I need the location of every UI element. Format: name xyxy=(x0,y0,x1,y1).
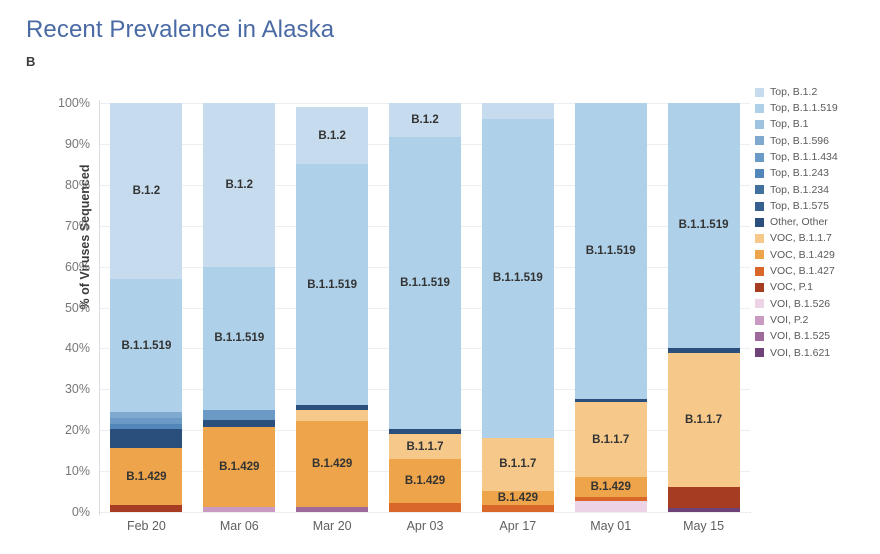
legend-item-label: VOC, P.1 xyxy=(770,282,813,293)
y-tick-label: 10% xyxy=(42,464,90,478)
bar-column[interactable]: B.1.429B.1.1.7B.1.1.519 xyxy=(575,103,647,512)
legend-swatch-icon xyxy=(755,153,764,162)
bar-segment[interactable]: B.1.429 xyxy=(203,427,275,507)
legend-swatch-icon xyxy=(755,120,764,129)
bar-segment[interactable]: B.1.429 xyxy=(482,491,554,506)
bar-segment-label: B.1.1.7 xyxy=(668,414,740,426)
y-tick-label: 0% xyxy=(42,505,90,519)
legend-swatch-icon xyxy=(755,348,764,357)
legend-swatch-icon xyxy=(755,283,764,292)
bar-segment[interactable] xyxy=(389,429,461,434)
y-tick-label: 90% xyxy=(42,137,90,151)
legend-item[interactable]: VOI, B.1.525 xyxy=(755,328,880,344)
bar-segment[interactable] xyxy=(575,497,647,501)
y-tick-label: 50% xyxy=(42,301,90,315)
bar-segment[interactable]: B.1.429 xyxy=(389,459,461,503)
bar-segment-label: B.1.1.519 xyxy=(110,340,182,352)
legend-swatch-icon xyxy=(755,316,764,325)
bar-segment-label: B.1.1.519 xyxy=(482,272,554,284)
legend-item-label: VOC, B.1.427 xyxy=(770,266,835,277)
legend-item-label: Top, B.1.575 xyxy=(770,201,829,212)
legend-item[interactable]: Top, B.1.2 xyxy=(755,84,880,100)
y-tick-label: 20% xyxy=(42,423,90,437)
legend-swatch-icon xyxy=(755,169,764,178)
y-tick-label: 70% xyxy=(42,219,90,233)
legend-swatch-icon xyxy=(755,185,764,194)
y-tick-label: 100% xyxy=(42,96,90,110)
bar-segment[interactable] xyxy=(110,505,182,512)
legend-item[interactable]: Top, B.1.234 xyxy=(755,182,880,198)
bar-segment[interactable] xyxy=(110,418,182,424)
legend-swatch-icon xyxy=(755,267,764,276)
y-tick-label: 60% xyxy=(42,260,90,274)
legend-item[interactable]: Other, Other xyxy=(755,214,880,230)
y-tick-label: 40% xyxy=(42,341,90,355)
bar-segment[interactable]: B.1.1.7 xyxy=(389,434,461,459)
bar-segment[interactable]: B.1.429 xyxy=(575,477,647,497)
bar-segment[interactable] xyxy=(296,507,368,512)
legend-item[interactable]: VOC, B.1.427 xyxy=(755,263,880,279)
bar-segment[interactable] xyxy=(575,399,647,402)
legend-item[interactable]: VOC, B.1.429 xyxy=(755,247,880,263)
plot-area: B.1.429B.1.1.519B.1.2B.1.429B.1.1.519B.1… xyxy=(100,103,750,512)
bar-segment[interactable]: B.1.2 xyxy=(389,103,461,137)
legend-item-label: VOI, P.2 xyxy=(770,315,808,326)
legend-item-label: Top, B.1.596 xyxy=(770,136,829,147)
bar-segment-label: B.1.1.519 xyxy=(575,245,647,257)
bar-segment[interactable]: B.1.429 xyxy=(110,448,182,505)
gridline xyxy=(100,512,750,513)
legend-item[interactable]: VOC, B.1.1.7 xyxy=(755,231,880,247)
bar-segment-label: B.1.429 xyxy=(110,471,182,483)
bar-segment[interactable] xyxy=(203,507,275,512)
legend-item[interactable]: VOC, P.1 xyxy=(755,280,880,296)
bar-segment[interactable]: B.1.2 xyxy=(110,103,182,279)
bar-segment-label: B.1.1.7 xyxy=(482,458,554,470)
bar-segment-label: B.1.2 xyxy=(110,185,182,197)
bar-segment[interactable]: B.1.1.519 xyxy=(110,279,182,412)
bar-segment-label: B.1.2 xyxy=(296,130,368,142)
bar-segment[interactable]: B.1.2 xyxy=(203,103,275,267)
legend-item-label: VOC, B.1.429 xyxy=(770,250,835,261)
legend-item[interactable]: Top, B.1.243 xyxy=(755,165,880,181)
legend-item-label: Top, B.1.243 xyxy=(770,168,829,179)
bar-column[interactable]: B.1.429B.1.1.519B.1.2 xyxy=(203,103,275,512)
legend-item[interactable]: Top, B.1.1.519 xyxy=(755,100,880,116)
legend-swatch-icon xyxy=(755,332,764,341)
legend-swatch-icon xyxy=(755,136,764,145)
bar-segment[interactable] xyxy=(203,410,275,420)
y-tick-label: 30% xyxy=(42,382,90,396)
legend-item[interactable]: VOI, B.1.526 xyxy=(755,296,880,312)
legend-item-label: Other, Other xyxy=(770,217,828,228)
panel-letter: B xyxy=(26,54,35,69)
bar-segment[interactable] xyxy=(668,508,740,512)
bar-segment-label: B.1.429 xyxy=(389,475,461,487)
bar-segment-label: B.1.1.519 xyxy=(668,219,740,231)
bar-segment[interactable] xyxy=(668,348,740,353)
bar-segment[interactable] xyxy=(110,429,182,448)
bar-segment[interactable] xyxy=(482,103,554,119)
legend-swatch-icon xyxy=(755,299,764,308)
bar-column[interactable]: B.1.1.7B.1.1.519 xyxy=(668,103,740,512)
bar-segment[interactable]: B.1.1.7 xyxy=(668,353,740,488)
legend-swatch-icon xyxy=(755,88,764,97)
bar-segment-label: B.1.1.519 xyxy=(389,277,461,289)
bar-segment[interactable]: B.1.429 xyxy=(296,421,368,507)
legend-item-label: Top, B.1.234 xyxy=(770,185,829,196)
bar-segment-label: B.1.2 xyxy=(203,179,275,191)
legend-item[interactable]: VOI, P.2 xyxy=(755,312,880,328)
bar-segment[interactable]: B.1.1.7 xyxy=(482,438,554,491)
figure-root: Recent Prevalence in Alaska B % of Virus… xyxy=(0,0,880,554)
bar-segment-label: B.1.429 xyxy=(296,458,368,470)
legend-swatch-icon xyxy=(755,104,764,113)
bar-segment[interactable]: B.1.1.519 xyxy=(482,119,554,437)
legend-swatch-icon xyxy=(755,234,764,243)
bar-segment[interactable] xyxy=(668,487,740,507)
bar-segment[interactable]: B.1.1.519 xyxy=(575,103,647,399)
bar-segment[interactable] xyxy=(296,405,368,410)
legend-item[interactable]: Top, B.1.1.434 xyxy=(755,149,880,165)
bar-segment-label: B.1.429 xyxy=(203,461,275,473)
bar-segment[interactable]: B.1.2 xyxy=(296,107,368,164)
bar-segment[interactable] xyxy=(110,424,182,430)
page-title: Recent Prevalence in Alaska xyxy=(26,16,334,44)
bar-segment[interactable] xyxy=(203,420,275,427)
legend-item-label: VOI, B.1.621 xyxy=(770,348,830,359)
bar-segment[interactable]: B.1.1.519 xyxy=(389,137,461,429)
legend-item-label: Top, B.1.1.519 xyxy=(770,103,838,114)
legend-item-label: VOI, B.1.526 xyxy=(770,299,830,310)
bar-segment-label: B.1.1.519 xyxy=(296,279,368,291)
bar-segment-label: B.1.429 xyxy=(575,481,647,493)
bar-segment[interactable]: B.1.1.7 xyxy=(575,402,647,476)
bar-column[interactable]: B.1.429B.1.1.7B.1.1.519 xyxy=(482,103,554,512)
chart-legend: Top, B.1.2Top, B.1.1.519Top, B.1Top, B.1… xyxy=(755,84,880,361)
legend-item-label: Top, B.1 xyxy=(770,119,809,130)
x-tick-label: May 15 xyxy=(649,519,759,533)
bar-segment[interactable] xyxy=(110,412,182,418)
y-tick-label: 80% xyxy=(42,178,90,192)
legend-item-label: Top, B.1.1.434 xyxy=(770,152,838,163)
bar-segment[interactable]: B.1.1.519 xyxy=(203,267,275,411)
bar-segment[interactable] xyxy=(389,503,461,512)
legend-item-label: VOI, B.1.525 xyxy=(770,331,830,342)
legend-item[interactable]: Top, B.1.596 xyxy=(755,133,880,149)
legend-item[interactable]: Top, B.1.575 xyxy=(755,198,880,214)
legend-swatch-icon xyxy=(755,202,764,211)
bar-column[interactable]: B.1.429B.1.1.519B.1.2 xyxy=(110,103,182,512)
legend-item[interactable]: Top, B.1 xyxy=(755,117,880,133)
bar-segment[interactable] xyxy=(296,410,368,421)
bar-segment[interactable] xyxy=(575,501,647,512)
bar-segment-label: B.1.429 xyxy=(482,492,554,504)
bar-segment-label: B.1.1.519 xyxy=(203,332,275,344)
legend-item-label: VOC, B.1.1.7 xyxy=(770,233,832,244)
bar-column[interactable]: B.1.429B.1.1.7B.1.1.519B.1.2 xyxy=(389,103,461,512)
legend-item[interactable]: VOI, B.1.621 xyxy=(755,345,880,361)
bar-segment-label: B.1.1.7 xyxy=(575,434,647,446)
bar-segment-label: B.1.2 xyxy=(389,114,461,126)
legend-swatch-icon xyxy=(755,218,764,227)
bar-segment[interactable]: B.1.1.519 xyxy=(668,103,740,348)
bar-segment-label: B.1.1.7 xyxy=(389,441,461,453)
legend-swatch-icon xyxy=(755,250,764,259)
bar-column[interactable]: B.1.429B.1.1.519B.1.2 xyxy=(296,103,368,512)
bar-segment[interactable] xyxy=(482,505,554,512)
bar-segment[interactable]: B.1.1.519 xyxy=(296,164,368,404)
legend-item-label: Top, B.1.2 xyxy=(770,87,817,98)
